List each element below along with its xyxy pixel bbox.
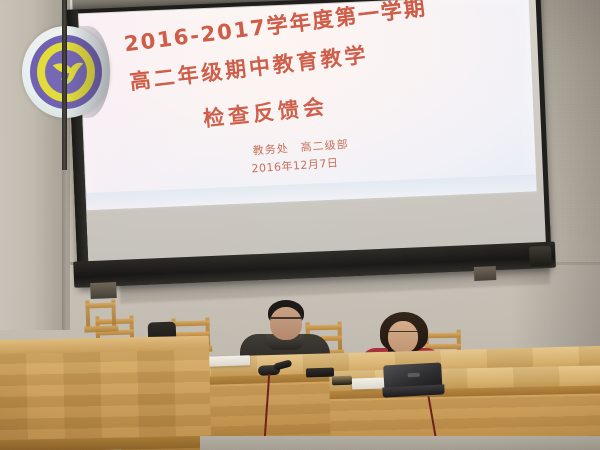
chair <box>85 299 116 340</box>
person-right-glasses-icon <box>388 331 418 339</box>
bench-front-panel <box>0 350 211 450</box>
slide-content: 2016-2017学年度第一学期 高二年级期中教育教学 检查反馈会 教务处 高二… <box>79 0 537 210</box>
papers-center <box>206 355 250 367</box>
chair-rail-top <box>85 302 115 308</box>
slide-title-line-3: 检查反馈会 <box>202 91 329 133</box>
emblem-shadow <box>66 26 110 118</box>
screen-mount-bracket-right <box>474 266 497 281</box>
floor-strip <box>200 436 600 450</box>
microphone <box>258 361 293 377</box>
laptop-base <box>382 384 444 397</box>
screen-bar-endcap <box>529 246 552 267</box>
remote-control <box>306 368 334 378</box>
front-bench <box>0 336 211 450</box>
microphone-head <box>273 359 292 370</box>
pillar-dark-edge <box>62 0 67 170</box>
projection-screen: 2016-2017学年度第一学期 高二年级期中教育教学 检查反馈会 教务处 高二… <box>62 0 553 304</box>
chair-rail-top <box>172 321 210 327</box>
laptop <box>381 362 445 399</box>
person-left-glasses-icon <box>271 317 301 325</box>
chair-seat <box>84 325 118 332</box>
photo-scene: 2016-2017学年度第一学期 高二年级期中教育教学 检查反馈会 教务处 高二… <box>0 0 600 450</box>
laptop-logo <box>408 373 420 378</box>
phone-on-table <box>332 376 352 386</box>
screen-mount-bracket-left <box>90 282 117 299</box>
